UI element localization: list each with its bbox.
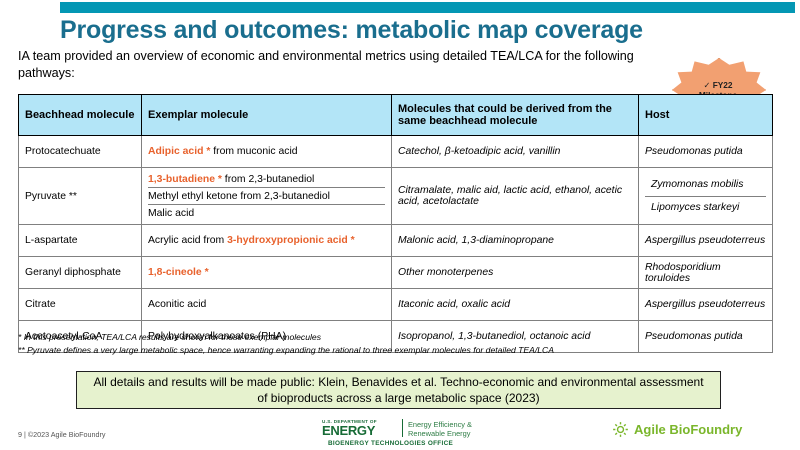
cell-beachhead: Protocatechuate xyxy=(19,136,142,168)
cell-beachhead: Citrate xyxy=(19,289,142,321)
table-body: ProtocatechuateAdipic acid * from muconi… xyxy=(19,136,773,353)
doe-bto-label: BIOENERGY TECHNOLOGIES OFFICE xyxy=(328,440,453,447)
col-header-beachhead: Beachhead molecule xyxy=(19,95,142,136)
exemplar-sublist-cell: Malic acid xyxy=(148,205,385,222)
cell-exemplar: 1,8-cineole * xyxy=(142,257,392,289)
cell-exemplar: Adipic acid * from muconic acid xyxy=(142,136,392,168)
agile-biofoundry-wordmark: Agile BioFoundry xyxy=(634,422,742,437)
doe-divider xyxy=(402,419,403,437)
table-row: CitrateAconitic acidItaconic acid, oxali… xyxy=(19,289,773,321)
cell-derived-molecules: Itaconic acid, oxalic acid xyxy=(392,289,639,321)
cell-host: Aspergillus pseudoterreus xyxy=(639,225,773,257)
table-row: ProtocatechuateAdipic acid * from muconi… xyxy=(19,136,773,168)
cell-exemplar: 1,3-butadiene * from 2,3-butanediolMethy… xyxy=(142,168,392,225)
page-title: Progress and outcomes: metabolic map cov… xyxy=(60,17,750,45)
cell-host: Zymomonas mobilisLipomyces starkeyi xyxy=(639,168,773,225)
plain-text: Methyl ethyl ketone from 2,3-butanediol xyxy=(148,191,330,202)
doe-eere-label: Energy Efficiency &Renewable Energy xyxy=(408,420,472,439)
table-row: L-aspartateAcrylic acid from 3-hydroxypr… xyxy=(19,225,773,257)
highlighted-text: 3-hydroxypropionic acid * xyxy=(227,235,355,246)
cell-derived-molecules: Citramalate, malic aid, lactic acid, eth… xyxy=(392,168,639,225)
plain-text: from muconic acid xyxy=(210,146,297,157)
host-sublist-row: Zymomonas mobilis xyxy=(645,174,766,197)
agile-biofoundry-logo: Agile BioFoundry xyxy=(612,421,742,438)
slide-root: Progress and outcomes: metabolic map cov… xyxy=(0,0,800,450)
cell-derived-molecules: Catechol, β-ketoadipic acid, vanillin xyxy=(392,136,639,168)
exemplar-sublist-cell: Methyl ethyl ketone from 2,3-butanediol xyxy=(148,188,385,205)
exemplar-sublist-row: Methyl ethyl ketone from 2,3-butanediol xyxy=(148,188,385,205)
exemplar-sublist-row: 1,3-butadiene * from 2,3-butanediol xyxy=(148,171,385,188)
cell-beachhead: L-aspartate xyxy=(19,225,142,257)
host-sublist: Zymomonas mobilisLipomyces starkeyi xyxy=(645,174,766,219)
footnote-2: ** Pyruvate defines a very large metabol… xyxy=(18,344,778,357)
cell-derived-molecules: Other monoterpenes xyxy=(392,257,639,289)
plain-text: from 2,3-butanediol xyxy=(222,174,314,185)
cell-derived-molecules: Malonic acid, 1,3-diaminopropane xyxy=(392,225,639,257)
cell-host: Pseudomonas putida xyxy=(639,136,773,168)
publication-callout: All details and results will be made pub… xyxy=(76,371,721,409)
badge-line-1: ✓ FY22 xyxy=(672,80,764,90)
cell-beachhead: Pyruvate ** xyxy=(19,168,142,225)
doe-logo: U.S. DEPARTMENT OF ENERGY Energy Efficie… xyxy=(322,419,532,449)
plain-text: Malic acid xyxy=(148,208,194,219)
cell-host: Aspergillus pseudoterreus xyxy=(639,289,773,321)
plain-text: Aconitic acid xyxy=(148,299,206,310)
exemplar-sublist-row: Malic acid xyxy=(148,205,385,222)
host-sublist-cell: Zymomonas mobilis xyxy=(645,174,766,197)
cell-exemplar: Aconitic acid xyxy=(142,289,392,321)
gear-sun-icon xyxy=(612,421,629,438)
footnotes: * In this presentation, TEA/LCA results … xyxy=(18,331,778,358)
host-sublist-cell: Lipomyces starkeyi xyxy=(645,196,766,219)
subtitle-text: IA team provided an overview of economic… xyxy=(18,48,638,83)
footnote-1: * In this presentation, TEA/LCA results … xyxy=(18,331,778,344)
plain-text: Acrylic acid from xyxy=(148,235,227,246)
highlighted-text: 1,8-cineole * xyxy=(148,267,209,278)
table-row: Geranyl diphosphate1,8-cineole *Other mo… xyxy=(19,257,773,289)
table-header-row: Beachhead molecule Exemplar molecule Mol… xyxy=(19,95,773,136)
exemplar-sublist: 1,3-butadiene * from 2,3-butanediolMethy… xyxy=(148,171,385,221)
cell-exemplar: Acrylic acid from 3-hydroxypropionic aci… xyxy=(142,225,392,257)
host-sublist-row: Lipomyces starkeyi xyxy=(645,196,766,219)
doe-energy-wordmark: ENERGY xyxy=(322,423,375,438)
col-header-derived: Molecules that could be derived from the… xyxy=(392,95,639,136)
cell-host: Rhodosporidium toruloides xyxy=(639,257,773,289)
top-accent-bar xyxy=(60,2,795,13)
table-row: Pyruvate **1,3-butadiene * from 2,3-buta… xyxy=(19,168,773,225)
page-number-footer: 9 | ©2023 Agile BioFoundry xyxy=(18,430,105,439)
highlighted-text: 1,3-butadiene * xyxy=(148,174,222,185)
col-header-exemplar: Exemplar molecule xyxy=(142,95,392,136)
cell-beachhead: Geranyl diphosphate xyxy=(19,257,142,289)
col-header-host: Host xyxy=(639,95,773,136)
exemplar-sublist-cell: 1,3-butadiene * from 2,3-butanediol xyxy=(148,171,385,188)
highlighted-text: Adipic acid * xyxy=(148,146,210,157)
pathways-table: Beachhead molecule Exemplar molecule Mol… xyxy=(18,94,773,353)
